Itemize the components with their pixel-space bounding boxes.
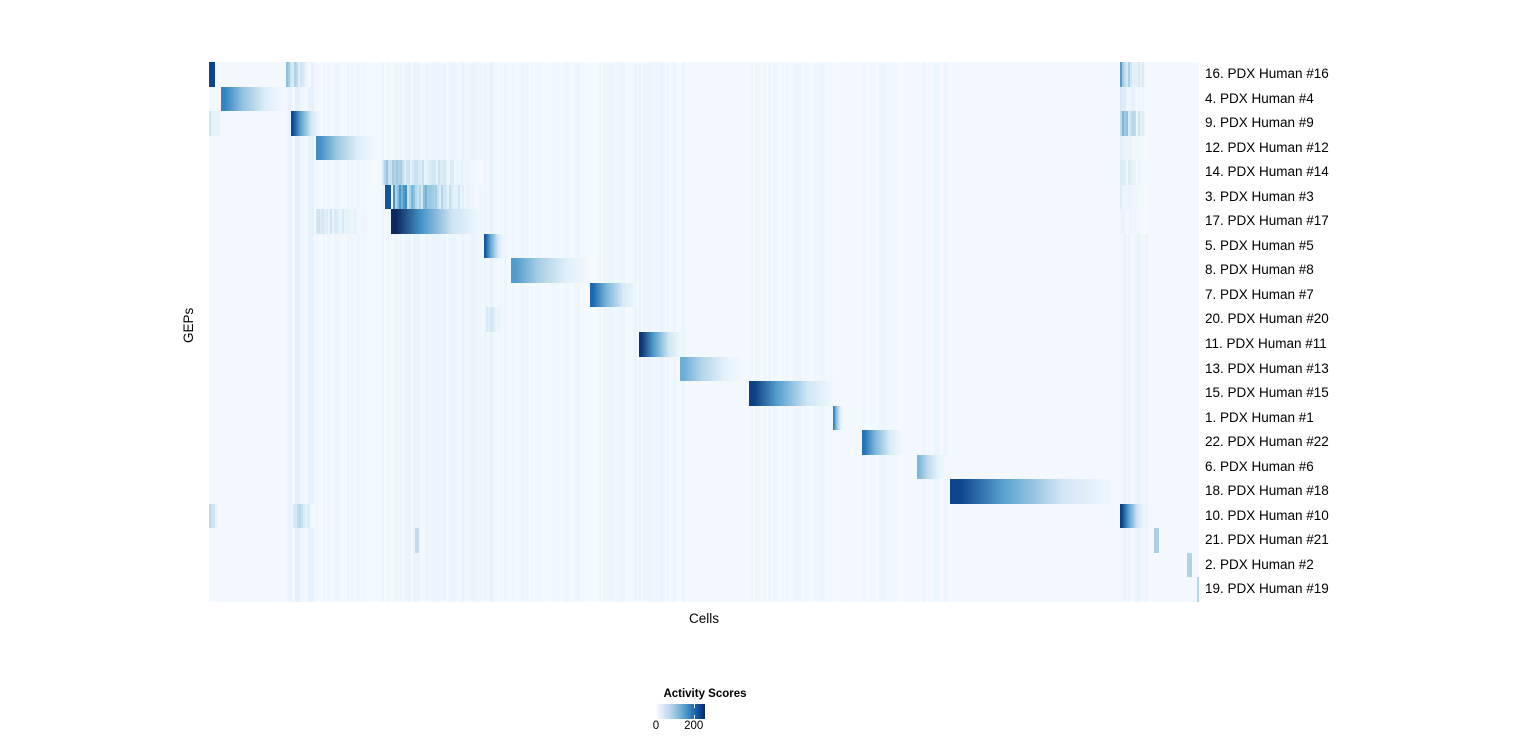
y-axis-label: GEPs [159,313,219,343]
heatmap-cell [221,87,283,112]
heatmap-row[interactable] [209,283,1199,308]
row-label: 7. PDX Human #7 [1205,283,1314,308]
row-label: 13. PDX Human #13 [1205,357,1329,382]
heatmap-row[interactable] [209,528,1199,553]
heatmap-cell [749,381,833,406]
heatmap-cell [680,357,743,382]
heatmap-row[interactable] [209,136,1199,161]
heatmap-cell [862,430,902,455]
heatmap-cell [511,258,590,283]
heatmap-row[interactable] [209,62,1199,87]
colorbar-gradient [656,704,705,719]
heatmap-row[interactable] [209,406,1199,431]
row-label: 18. PDX Human #18 [1205,479,1329,504]
heatmap-cell [217,111,220,136]
colorbar-tick [694,715,695,719]
row-label: 6. PDX Human #6 [1205,455,1314,480]
heatmap-cell [833,406,843,431]
heatmap-cell [373,209,376,234]
colorbar-title: Activity Scores [610,688,800,700]
heatmap-cell [385,185,391,210]
heatmap-cell [1146,111,1149,136]
row-label: 14. PDX Human #14 [1205,160,1329,185]
heatmap-cell [917,455,947,480]
row-label: 20. PDX Human #20 [1205,307,1329,332]
heatmap-cell [1197,577,1199,602]
heatmap-row[interactable] [209,258,1199,283]
row-label: 4. PDX Human #4 [1205,87,1314,112]
heatmap-row[interactable] [209,357,1199,382]
heatmap-cell [1146,136,1149,161]
colorbar-tick [694,704,695,708]
row-label: 2. PDX Human #2 [1205,553,1314,578]
heatmap-cell [291,111,320,136]
row-label-list: 16. PDX Human #164. PDX Human #49. PDX H… [1205,62,1525,602]
heatmap-row[interactable] [209,307,1199,332]
heatmap-cell [1146,185,1149,210]
heatmap-cell [479,160,482,185]
colorbar-tick-label: 200 [684,720,703,732]
heatmap-row[interactable] [209,234,1199,259]
heatmap-cell [484,234,504,259]
heatmap-row[interactable] [209,577,1199,602]
row-label: 17. PDX Human #17 [1205,209,1329,234]
heatmap-row[interactable] [209,455,1199,480]
row-label: 15. PDX Human #15 [1205,381,1329,406]
heatmap-cell [590,283,637,308]
heatmap-row[interactable] [209,332,1199,357]
heatmap-row[interactable] [209,111,1199,136]
heatmap-cell [1146,209,1149,234]
row-label: 9. PDX Human #9 [1205,111,1314,136]
heatmap-cell [1154,528,1159,553]
heatmap-row[interactable] [209,209,1199,234]
row-label: 3. PDX Human #3 [1205,185,1314,210]
heatmap-cell [316,136,375,161]
row-label: 19. PDX Human #19 [1205,577,1329,602]
row-label: 10. PDX Human #10 [1205,504,1329,529]
colorbar-tick [656,704,657,708]
heatmap-cell [950,479,1110,504]
heatmap-cell [639,332,682,357]
heatmap-cell [1187,553,1192,578]
heatmap-plot-area[interactable] [209,62,1199,602]
heatmap-cell [476,185,479,210]
heatmap-cell [1120,504,1145,529]
row-label: 22. PDX Human #22 [1205,430,1329,455]
row-label: 11. PDX Human #11 [1205,332,1327,357]
heatmap-row[interactable] [209,430,1199,455]
x-axis-label: Cells [209,611,1199,626]
row-label: 5. PDX Human #5 [1205,234,1314,259]
colorbar-tick-label: 0 [653,720,659,732]
heatmap-row[interactable] [209,479,1199,504]
colorbar-tick [656,715,657,719]
heatmap-cell [308,62,311,87]
heatmap-row[interactable] [209,160,1199,185]
heatmap-cell [500,307,503,332]
heatmap-row[interactable] [209,87,1199,112]
heatmap-row[interactable] [209,553,1199,578]
heatmap-cell [311,504,314,529]
heatmap-row[interactable] [209,381,1199,406]
row-label: 16. PDX Human #16 [1205,62,1329,87]
heatmap-cell [415,528,419,553]
colorbar-legend: Activity Scores 0200 [610,688,800,740]
heatmap-cell [1146,160,1149,185]
heatmap-cell [1146,87,1149,112]
heatmap-figure: GEPs Cells 16. PDX Human #164. PDX Human… [0,0,1540,743]
heatmap-row[interactable] [209,185,1199,210]
row-label: 8. PDX Human #8 [1205,258,1314,283]
row-label: 21. PDX Human #21 [1205,528,1329,553]
heatmap-row[interactable] [209,504,1199,529]
row-label: 12. PDX Human #12 [1205,136,1329,161]
heatmap-cell [1146,62,1149,87]
heatmap-cell [209,62,215,87]
heatmap-cell [215,504,218,529]
heatmap-cell [391,209,478,234]
row-label: 1. PDX Human #1 [1205,406,1314,431]
